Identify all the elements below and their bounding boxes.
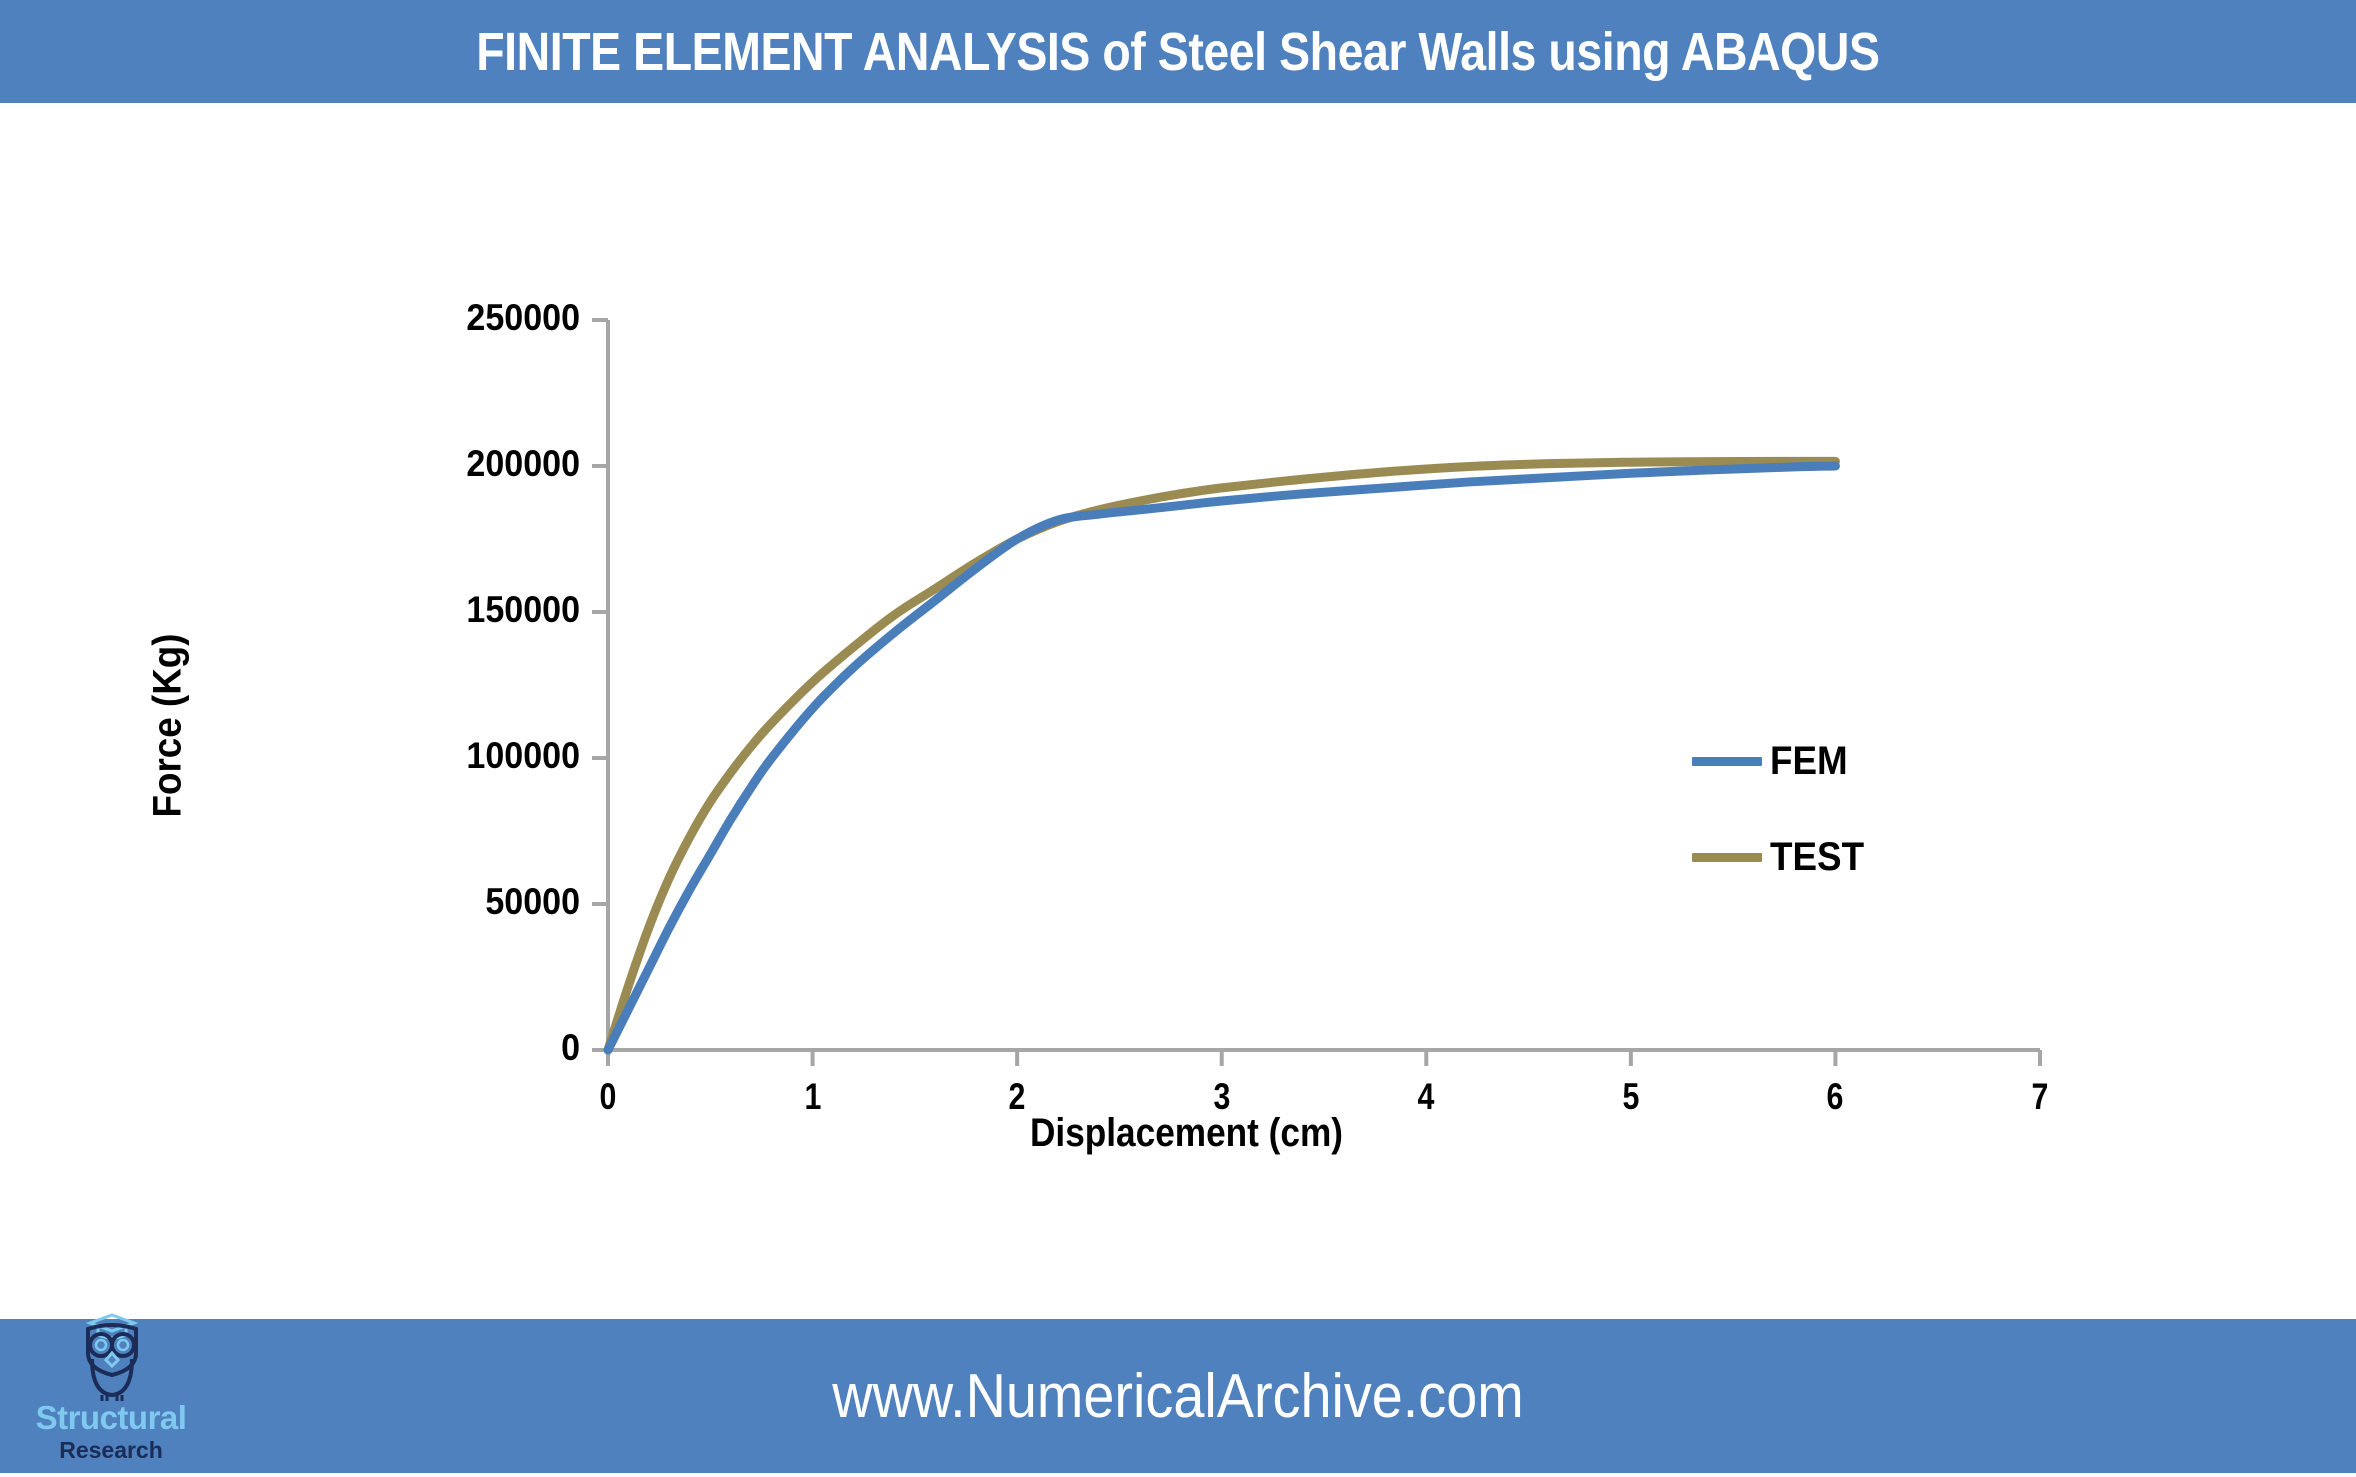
footer-banner: Structural Research www.NumericalArchive…: [0, 1319, 2356, 1473]
footer-website-url[interactable]: www.NumericalArchive.com: [118, 1319, 2238, 1473]
y-tick-label: 200000: [322, 443, 580, 485]
y-axis-title: Force (Kg): [146, 514, 191, 937]
x-tick-label: 2: [993, 1076, 1042, 1118]
x-tick-label: 7: [2015, 1076, 2064, 1118]
x-tick-label: 6: [1811, 1076, 1860, 1118]
chart-axes: [592, 320, 2040, 1066]
header-banner: FINITE ELEMENT ANALYSIS of Steel Shear W…: [0, 0, 2356, 103]
y-tick-label: 150000: [322, 589, 580, 631]
y-tick-label: 100000: [322, 735, 580, 777]
x-tick-label: 5: [1606, 1076, 1655, 1118]
legend-swatch-fem: [1692, 757, 1762, 766]
chart-series: [608, 461, 1835, 1050]
x-tick-label: 4: [1402, 1076, 1451, 1118]
legend-label-test: TEST: [1770, 835, 1864, 880]
x-tick-label: 1: [788, 1076, 837, 1118]
force-displacement-chart: Force (Kg) Displacement (cm) 01234567050…: [0, 103, 2356, 1319]
x-axis-title: Displacement (cm): [1030, 1111, 1343, 1156]
y-tick-label: 250000: [322, 297, 580, 339]
page-title: FINITE ELEMENT ANALYSIS of Steel Shear W…: [476, 21, 1879, 83]
legend-item-fem[interactable]: FEM: [1692, 713, 1872, 809]
slide-canvas: Force (Kg) Displacement (cm) 01234567050…: [0, 103, 2356, 1319]
legend-label-fem: FEM: [1770, 739, 1848, 784]
legend-item-test[interactable]: TEST: [1692, 809, 1872, 905]
y-tick-label: 0: [322, 1027, 580, 1069]
y-tick-label: 50000: [322, 881, 580, 923]
series-line-test: [608, 461, 1835, 1050]
x-tick-label: 0: [583, 1076, 632, 1118]
legend-swatch-test: [1692, 853, 1762, 862]
chart-legend: FEM TEST: [1692, 713, 1872, 905]
x-tick-label: 3: [1197, 1076, 1246, 1118]
series-line-fem: [608, 466, 1835, 1050]
